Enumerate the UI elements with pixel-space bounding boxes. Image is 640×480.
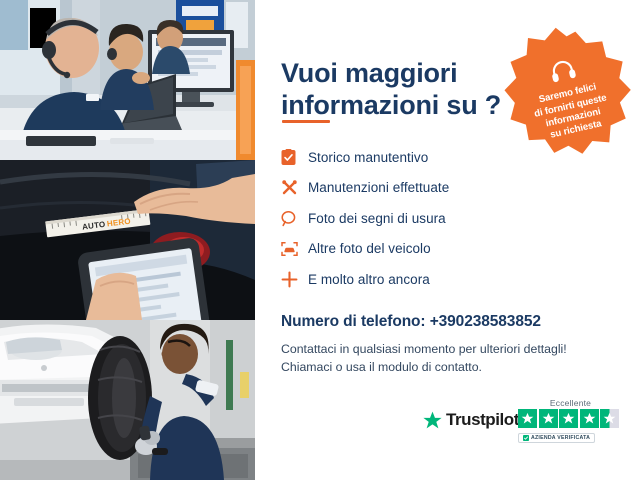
autohero-info-banner: AUTO HERO [0,0,640,480]
page-title: Vuoi maggiori informazioni su ? [281,58,531,121]
feature-label: Manutenzioni effettuate [308,180,449,195]
photo-column: AUTO HERO [0,0,255,480]
phone-number-line: Numero di telefono: +390238583852 [281,313,541,331]
feature-label: Altre foto del veicolo [308,241,431,256]
photo-inspection-ruler: AUTO HERO [0,160,255,320]
star-icon [518,409,537,428]
verified-check-icon [523,435,529,441]
contact-description: Contattaci in qualsiasi momento per ulte… [281,340,611,377]
headline-line-2: informazioni su ? [281,90,501,120]
car-scan-icon [281,241,308,257]
clipboard-check-icon [281,149,308,166]
feature-item-storico: Storico manutentivo [281,143,541,171]
verified-company-badge: AZIENDA VERIFICATA [518,433,595,443]
magnifier-icon [281,210,308,227]
verified-label: AZIENDA VERIFICATA [531,435,590,441]
info-on-request-badge: Saremo felici di fornirti queste informa… [503,27,631,155]
rating-label: Eccellente [518,398,623,408]
feature-label: Storico manutentivo [308,150,428,165]
trustpilot-widget[interactable]: Trustpilot Eccellente AZIENDA VERIFICATA [423,398,623,442]
trustpilot-wordmark: Trustpilot [446,410,519,430]
headset-icon [548,58,578,89]
contact-description-line-2: Chiamaci o usa il modulo di contatto. [281,360,482,374]
trustpilot-star-icon [423,411,442,430]
feature-item-manutenzioni: Manutenzioni effettuate [281,174,541,202]
photo-wheel-inspection [0,320,255,480]
trustpilot-logo: Trustpilot [423,410,519,430]
feature-list: Storico manutentivo Manutenzioni effettu… [281,143,541,296]
badge-text-lines: Saremo felici di fornirti queste informa… [516,77,628,148]
trustpilot-rating: Eccellente AZIENDA VERIFICATA [518,398,623,446]
feature-label: Foto dei segni di usura [308,211,446,226]
feature-item-altre-foto: Altre foto del veicolo [281,235,541,263]
feature-label: E molto altro ancora [308,272,430,287]
title-divider [282,120,330,123]
contact-description-line-1: Contattaci in qualsiasi momento per ulte… [281,342,567,356]
star-icon [559,409,578,428]
plus-icon [281,271,308,288]
star-rating [518,409,623,428]
star-icon [539,409,558,428]
tools-cross-icon [281,179,308,196]
headline-line-1: Vuoi maggiori [281,58,457,88]
feature-item-foto-usura: Foto dei segni di usura [281,204,541,232]
feature-item-altro: E molto altro ancora [281,265,541,293]
photo-call-center [0,0,255,160]
star-half-icon [600,409,619,428]
star-icon [580,409,599,428]
